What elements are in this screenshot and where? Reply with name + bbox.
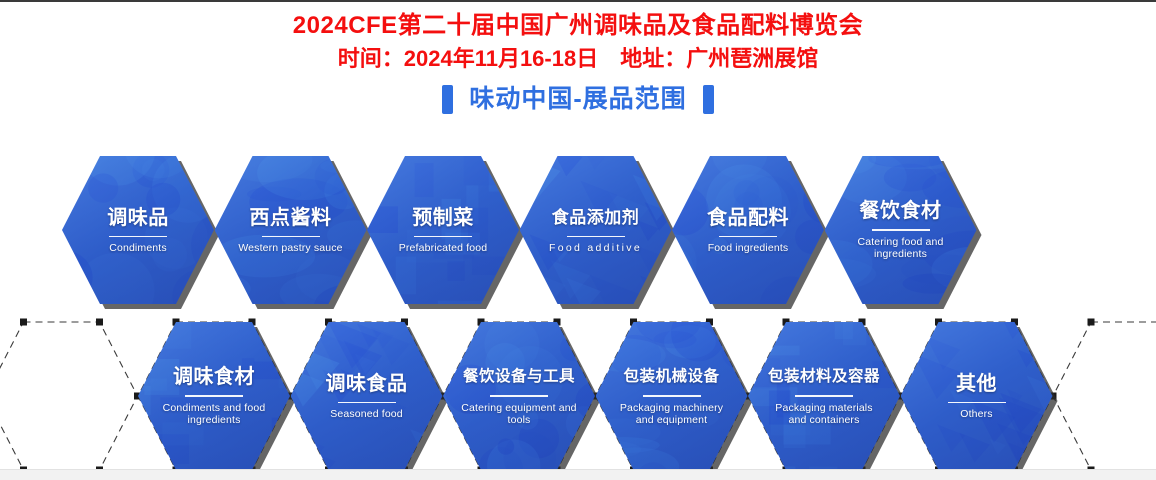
label-divider <box>490 395 548 397</box>
category-name-cn: 调味食材 <box>173 365 255 389</box>
category-name-en: Condiments and food ingredients <box>155 402 273 427</box>
label-divider <box>719 236 777 238</box>
category-name-en: Catering equipment and tools <box>460 402 578 427</box>
category-hexagon[interactable]: 调味食材Condiments and food ingredients <box>138 322 290 470</box>
category-name-en: Others <box>960 408 992 421</box>
event-venue: 地址：广州琶洲展馆 <box>620 46 818 71</box>
hexagon-label: 餐饮设备与工具Catering equipment and tools <box>443 322 595 470</box>
top-border-rule <box>0 0 1156 2</box>
category-hexagon[interactable]: 西点酱料Western pastry sauce <box>215 156 367 304</box>
category-hexagon[interactable]: 食品添加剂Food additive <box>520 156 672 304</box>
category-name-cn: 食品添加剂 <box>552 206 640 230</box>
category-name-cn: 食品配料 <box>707 206 789 230</box>
category-name-en: Packaging machinery and equipment <box>613 402 731 427</box>
label-divider <box>414 236 472 238</box>
slide-header: 2024CFE第二十届中国广州调味品及食品配料博览会 时间：2024年11月16… <box>0 0 1156 118</box>
label-divider <box>338 402 396 404</box>
category-name-cn: 西点酱料 <box>250 206 332 230</box>
category-name-cn: 餐饮食材 <box>860 199 942 223</box>
hexagon-label: 包装材料及容器Packaging materials and container… <box>748 322 900 470</box>
label-divider <box>948 402 1006 404</box>
category-hexagon[interactable]: 其他Others <box>901 322 1053 470</box>
category-name-cn: 包装材料及容器 <box>768 365 880 389</box>
event-date: 时间：2024年11月16-18日 <box>338 46 598 71</box>
label-divider <box>185 395 243 397</box>
slide-canvas: 2024CFE第二十届中国广州调味品及食品配料博览会 时间：2024年11月16… <box>0 0 1156 480</box>
hexagon-label: 调味食品Seasoned food <box>291 322 443 470</box>
bottom-strip <box>0 469 1156 480</box>
hexagon-label: 包装机械设备Packaging machinery and equipment <box>596 322 748 470</box>
label-divider <box>795 395 853 397</box>
category-hexagon[interactable]: 预制菜Prefabricated food <box>367 156 519 304</box>
label-divider <box>643 395 701 397</box>
hexagon-label: 西点酱料Western pastry sauce <box>215 156 367 304</box>
hexagon-label: 餐饮食材Catering food and ingredients <box>825 156 977 304</box>
category-hexagon[interactable]: 包装材料及容器Packaging materials and container… <box>748 322 900 470</box>
label-divider <box>262 236 320 238</box>
category-name-en: Food ingredients <box>708 242 789 255</box>
category-hexagon[interactable]: 调味品Condiments <box>62 156 214 304</box>
hexagon-label: 预制菜Prefabricated food <box>367 156 519 304</box>
accent-bar-right-icon <box>703 85 714 114</box>
category-name-cn: 餐饮设备与工具 <box>463 365 575 389</box>
label-divider <box>567 236 625 238</box>
event-meta-line: 时间：2024年11月16-18日地址：广州琶洲展馆 <box>0 41 1156 73</box>
category-name-en: Food additive <box>549 242 642 255</box>
category-name-cn: 调味品 <box>107 206 169 230</box>
category-name-cn: 包装机械设备 <box>623 365 719 389</box>
label-divider <box>109 236 167 238</box>
hexagon-label: 其他Others <box>901 322 1053 470</box>
category-name-en: Western pastry sauce <box>238 242 342 255</box>
category-name-en: Packaging materials and containers <box>765 402 883 427</box>
event-title: 2024CFE第二十届中国广州调味品及食品配料博览会 <box>0 0 1156 41</box>
section-subtitle: 味动中国-展品范围 <box>469 84 686 114</box>
category-name-en: Seasoned food <box>330 408 403 421</box>
category-name-en: Condiments <box>109 242 167 255</box>
hexagon-label: 食品配料Food ingredients <box>672 156 824 304</box>
category-hexagon[interactable]: 包装机械设备Packaging machinery and equipment <box>596 322 748 470</box>
category-hexagon[interactable]: 食品配料Food ingredients <box>672 156 824 304</box>
category-name-cn: 预制菜 <box>412 206 474 230</box>
category-name-en: Catering food and ingredients <box>842 236 960 261</box>
category-hexagon[interactable]: 餐饮食材Catering food and ingredients <box>825 156 977 304</box>
category-hexagon[interactable]: 餐饮设备与工具Catering equipment and tools <box>443 322 595 470</box>
category-name-en: Prefabricated food <box>399 242 488 255</box>
category-name-cn: 其他 <box>956 372 997 396</box>
hexagon-label: 食品添加剂Food additive <box>520 156 672 304</box>
category-name-cn: 调味食品 <box>326 372 408 396</box>
label-divider <box>872 229 930 231</box>
category-hexagon[interactable]: 调味食品Seasoned food <box>291 322 443 470</box>
hexagon-label: 调味品Condiments <box>62 156 214 304</box>
section-subtitle-row: 味动中国-展品范围 <box>0 73 1156 118</box>
hexagon-label: 调味食材Condiments and food ingredients <box>138 322 290 470</box>
accent-bar-left-icon <box>442 85 453 114</box>
